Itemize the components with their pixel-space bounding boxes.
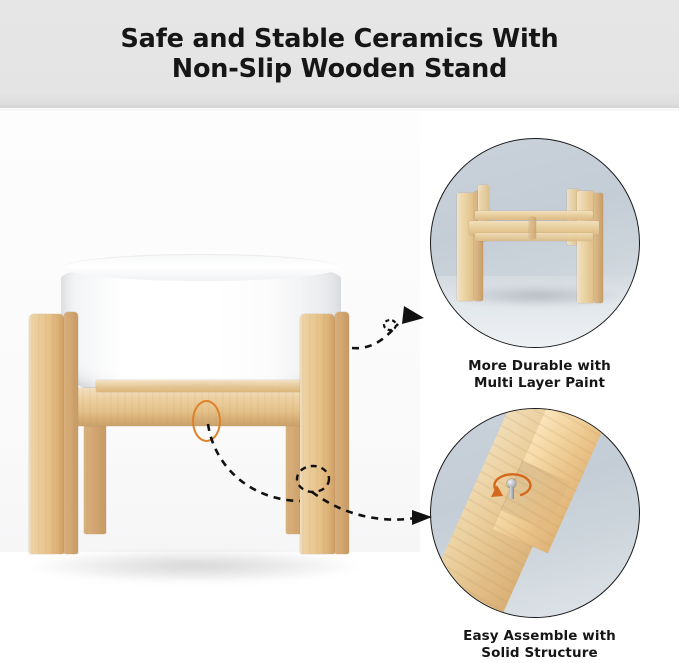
bowl-rim bbox=[63, 254, 339, 281]
wood-grain bbox=[64, 312, 78, 554]
stand-crossbar-rear bbox=[96, 380, 304, 392]
stand-leg-front-right-edge bbox=[335, 312, 349, 554]
page-title: Safe and Stable Ceramics With Non-Slip W… bbox=[0, 24, 679, 84]
product-feature-image: Safe and Stable Ceramics With Non-Slip W… bbox=[0, 0, 679, 663]
wood-grain bbox=[300, 314, 335, 554]
stand-leg-front-right bbox=[300, 314, 335, 554]
caption-assembly-line-2: Solid Structure bbox=[410, 645, 669, 662]
stand-leg-front-left bbox=[29, 314, 64, 554]
stand-leg-front-left-edge bbox=[64, 312, 78, 554]
mini-stand-rail-joint bbox=[529, 217, 536, 239]
caption-assembly: Easy Assemble with Solid Structure bbox=[410, 628, 669, 662]
mini-stand-leg-left bbox=[457, 193, 474, 301]
caption-assembly-line-1: Easy Assemble with bbox=[463, 628, 616, 644]
caption-durability: More Durable with Multi Layer Paint bbox=[410, 358, 669, 392]
callout-inset-durability bbox=[430, 138, 640, 348]
floor-shadow bbox=[30, 549, 360, 583]
main-product-photo bbox=[0, 112, 420, 663]
wood-grain bbox=[335, 312, 349, 554]
title-line-1: Safe and Stable Ceramics With bbox=[121, 24, 559, 54]
caption-durability-line-1: More Durable with bbox=[468, 358, 611, 374]
mini-stand-leg-right-edge bbox=[594, 193, 603, 303]
screw-shaft bbox=[510, 487, 514, 499]
mini-stand-leg-right-front bbox=[577, 191, 594, 303]
joint-highlight-marker bbox=[192, 400, 221, 442]
title-line-2: Non-Slip Wooden Stand bbox=[0, 54, 679, 84]
callout-inset-assembly bbox=[430, 408, 640, 618]
caption-durability-line-2: Multi Layer Paint bbox=[410, 375, 669, 392]
wood-grain bbox=[29, 314, 64, 554]
header-divider bbox=[0, 108, 679, 111]
